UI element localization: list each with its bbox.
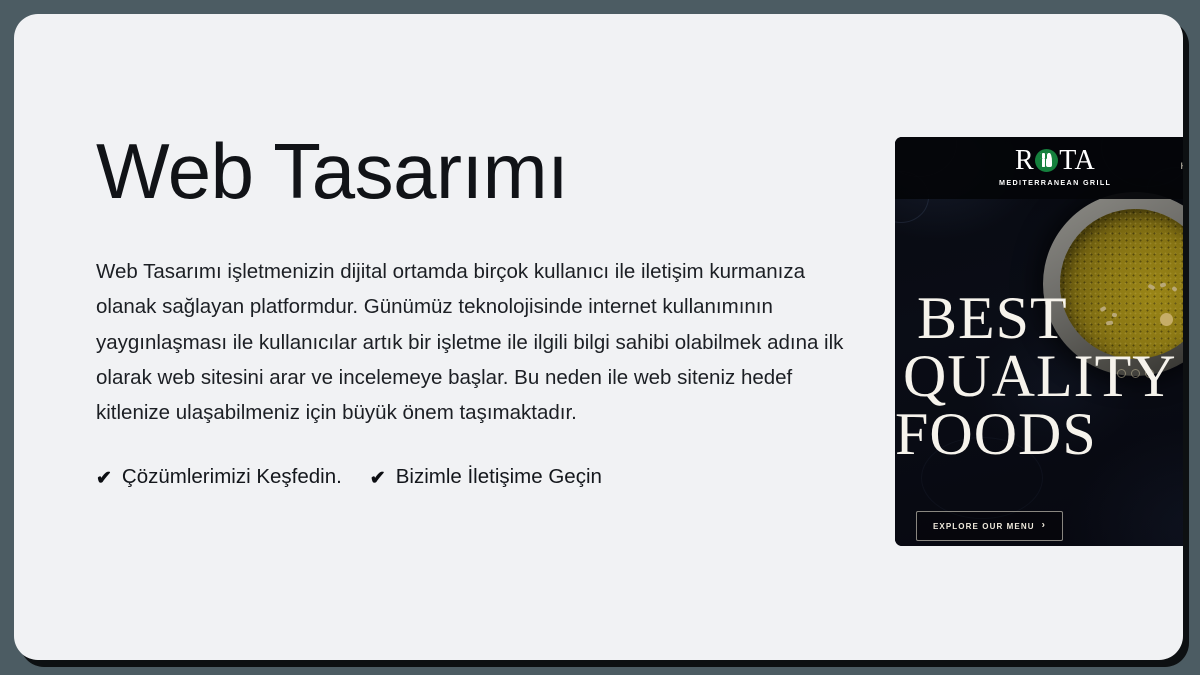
content-card: Web Tasarımı Web Tasarımı işletmenizin d… <box>14 14 1183 660</box>
fork-icon <box>1042 153 1045 167</box>
check-icon: ✔ <box>96 469 112 488</box>
cta-item-explore-solutions[interactable]: ✔ Çözümlerimizi Keşfedin. <box>96 465 342 489</box>
text-column: Web Tasarımı Web Tasarımı işletmenizin d… <box>96 132 871 489</box>
chevron-right-icon: › <box>1042 521 1046 531</box>
headline-line: BEST <box>895 289 1183 347</box>
explore-our-menu-button[interactable]: EXPLORE OUR MENU › <box>916 511 1063 541</box>
rota-logo[interactable]: R TA MEDITERRANEAN GRILL <box>999 147 1111 187</box>
cta-item-label: Çözümlerimizi Keşfedin. <box>122 465 342 489</box>
preview-navbar: R TA MEDITERRANEAN GRILL Home <box>895 137 1183 199</box>
check-icon: ✔ <box>370 469 386 488</box>
page-title: Web Tasarımı <box>96 132 871 210</box>
logo-letters-ta: TA <box>1059 147 1095 175</box>
logo-wordmark: R TA <box>999 147 1111 175</box>
screenshot-stage: Web Tasarımı Web Tasarımı işletmenizin d… <box>0 0 1200 675</box>
logo-tagline: MEDITERRANEAN GRILL <box>999 178 1111 187</box>
cta-list: ✔ Çözümlerimizi Keşfedin. ✔ Bizimle İlet… <box>96 430 871 489</box>
headline-line: QUALITY <box>895 347 1183 405</box>
headline-line: FOODS <box>895 405 1183 463</box>
hero-description: Web Tasarımı işletmenizin dijital ortamd… <box>96 210 858 430</box>
logo-letter-r: R <box>1015 147 1034 175</box>
fork-and-spoon-icon <box>1035 149 1058 172</box>
explore-button-label: EXPLORE OUR MENU <box>933 522 1035 531</box>
nav-item-home[interactable]: Home <box>1180 161 1183 172</box>
website-preview-image[interactable]: R TA MEDITERRANEAN GRILL Home BEST QUALI… <box>895 137 1183 546</box>
preview-headline: BEST QUALITY FOODS <box>895 289 1183 464</box>
spoon-icon <box>1046 153 1051 167</box>
cta-item-label: Bizimle İletişime Geçin <box>396 465 602 489</box>
cta-item-contact-us[interactable]: ✔ Bizimle İletişime Geçin <box>370 465 602 489</box>
